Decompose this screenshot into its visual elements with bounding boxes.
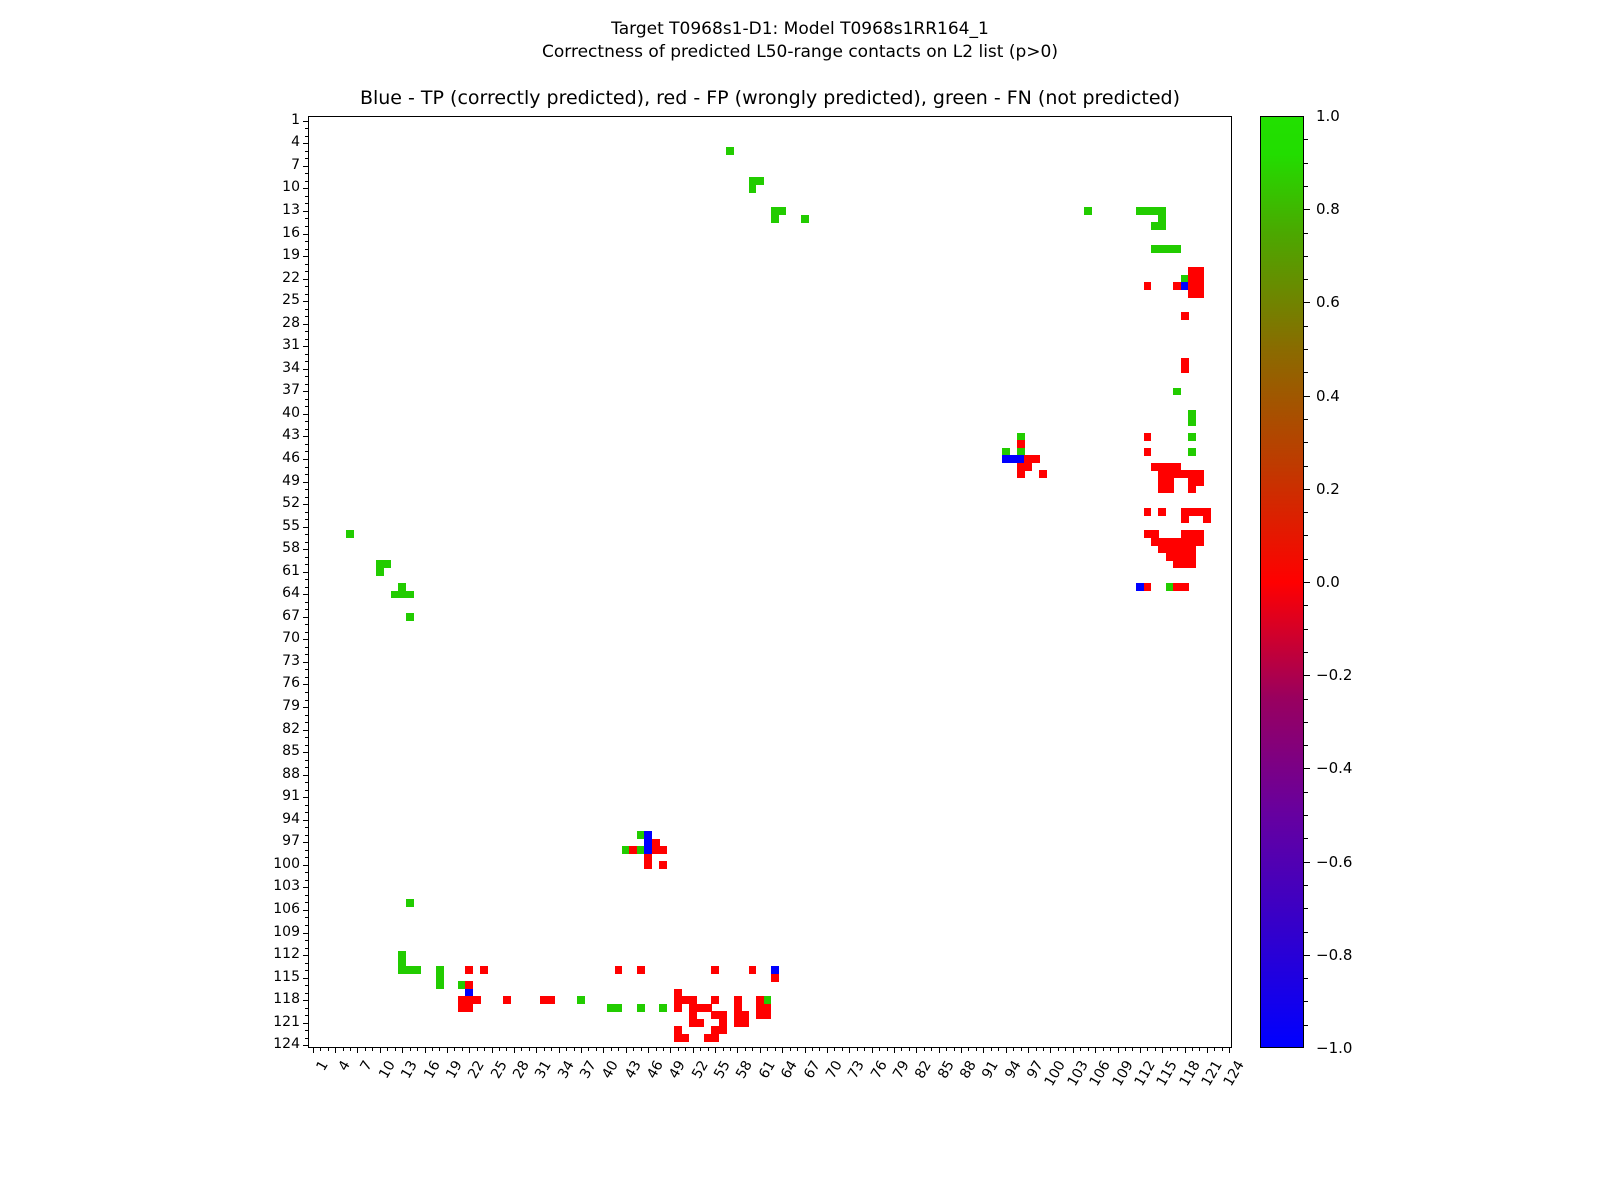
x-tick — [879, 1047, 880, 1051]
y-tick — [305, 579, 309, 580]
x-axis-tick-label: 37 — [577, 1058, 600, 1081]
colorbar-tick-label: −0.8 — [1316, 946, 1352, 964]
contact-cell-fn — [406, 899, 414, 907]
y-tick — [305, 692, 309, 693]
y-tick — [305, 286, 309, 287]
x-tick — [715, 1047, 716, 1053]
contact-cell-fp — [1181, 365, 1189, 373]
colorbar-tick-label: 0.6 — [1316, 293, 1340, 311]
y-tick — [305, 1008, 309, 1009]
x-tick — [998, 1047, 999, 1051]
x-tick — [946, 1047, 947, 1051]
colorbar-minor-tick — [1304, 699, 1308, 700]
y-tick — [303, 820, 309, 821]
x-tick — [633, 1047, 634, 1051]
y-tick — [305, 128, 309, 129]
y-tick — [303, 279, 309, 280]
x-tick — [1222, 1047, 1223, 1051]
x-tick — [730, 1047, 731, 1051]
y-tick — [305, 602, 309, 603]
contact-cell-fp — [1203, 515, 1211, 523]
y-tick — [305, 497, 309, 498]
y-tick — [305, 1030, 309, 1031]
contact-cell-fp — [1039, 470, 1047, 478]
y-tick — [305, 331, 309, 332]
x-axis-tick-label: 34 — [555, 1058, 578, 1081]
y-tick — [303, 1023, 309, 1024]
colorbar-minor-tick — [1304, 815, 1308, 816]
y-tick — [305, 136, 309, 137]
y-tick — [305, 361, 309, 362]
y-tick — [305, 948, 309, 949]
y-tick — [303, 775, 309, 776]
y-tick — [303, 730, 309, 731]
y-tick — [303, 617, 309, 618]
y-tick — [305, 444, 309, 445]
y-tick — [305, 429, 309, 430]
y-tick — [303, 143, 309, 144]
contact-cell-fn — [346, 530, 354, 538]
x-tick — [737, 1047, 738, 1053]
y-tick — [303, 887, 309, 888]
contact-cell-fn — [436, 981, 444, 989]
colorbar-tick — [1304, 582, 1310, 583]
y-axis-tick-label: 4 — [291, 134, 300, 150]
colorbar-minor-tick — [1304, 652, 1308, 653]
y-tick — [305, 557, 309, 558]
y-tick — [303, 436, 309, 437]
x-tick — [834, 1047, 835, 1051]
contact-cell-fn — [726, 147, 734, 155]
y-tick — [303, 482, 309, 483]
y-tick — [303, 1000, 309, 1001]
x-axis-tick-label: 79 — [890, 1058, 913, 1081]
x-tick — [819, 1047, 820, 1051]
contact-map-plot[interactable] — [308, 116, 1232, 1048]
colorbar-minor-tick — [1304, 396, 1308, 397]
y-tick — [303, 933, 309, 934]
x-tick — [1028, 1047, 1029, 1053]
y-tick — [303, 121, 309, 122]
x-axis-tick-label: 118 — [1176, 1058, 1203, 1089]
contact-cell-fp — [637, 966, 645, 974]
x-tick — [954, 1047, 955, 1051]
x-tick — [842, 1047, 843, 1051]
y-tick — [305, 767, 309, 768]
x-tick — [700, 1047, 701, 1051]
y-axis-tick-label: 73 — [282, 653, 300, 669]
y-tick — [303, 549, 309, 550]
figure-root: Target T0968s1-D1: Model T0968s1RR164_1 … — [0, 0, 1600, 1200]
y-axis-tick-label: 103 — [273, 878, 300, 894]
y-axis-tick-label: 10 — [282, 179, 300, 195]
y-tick — [305, 249, 309, 250]
contact-map-cells — [309, 117, 1231, 1047]
x-tick — [559, 1047, 560, 1053]
y-tick — [305, 835, 309, 836]
y-axis-tick-label: 106 — [273, 901, 300, 917]
x-tick — [648, 1047, 649, 1053]
contact-cell-fp — [1181, 515, 1189, 523]
colorbar-minor-tick — [1304, 349, 1308, 350]
contact-cell-fp — [465, 1004, 473, 1012]
y-tick — [305, 451, 309, 452]
y-axis-tick-label: 37 — [282, 382, 300, 398]
x-tick — [536, 1047, 537, 1053]
x-axis-tick-label: 19 — [443, 1058, 466, 1081]
x-axis-tick-label: 58 — [734, 1058, 757, 1081]
y-tick — [303, 256, 309, 257]
y-axis-tick-label: 79 — [282, 698, 300, 714]
x-axis-tick-label: 67 — [801, 1058, 824, 1081]
contact-cell-fn — [756, 177, 764, 185]
contact-cell-fp — [741, 1019, 749, 1027]
colorbar-tick — [1304, 862, 1310, 863]
x-tick — [626, 1047, 627, 1053]
colorbar-minor-tick — [1304, 978, 1308, 979]
y-tick — [303, 752, 309, 753]
y-tick — [305, 677, 309, 678]
x-tick — [417, 1047, 418, 1051]
y-tick — [305, 624, 309, 625]
colorbar-minor-tick — [1304, 885, 1308, 886]
contact-cell-fp — [547, 996, 555, 1004]
x-axis-tick-label: 106 — [1087, 1058, 1114, 1089]
y-tick — [303, 797, 309, 798]
contact-cell-fp — [1144, 583, 1152, 591]
y-tick — [305, 1015, 309, 1016]
contact-cell-fn — [1173, 245, 1181, 253]
y-axis-tick-label: 61 — [282, 563, 300, 579]
x-tick — [506, 1047, 507, 1051]
colorbar-minor-tick — [1304, 605, 1308, 606]
contact-cell-fp — [1196, 538, 1204, 546]
x-axis-tick-label: 31 — [532, 1058, 555, 1081]
contact-cell-fp — [1181, 312, 1189, 320]
x-tick — [827, 1047, 828, 1053]
y-tick — [305, 316, 309, 317]
y-tick — [305, 902, 309, 903]
x-axis-tick-label: 28 — [510, 1058, 533, 1081]
contact-cell-fp — [465, 966, 473, 974]
y-tick — [303, 978, 309, 979]
colorbar-minor-tick — [1304, 932, 1308, 933]
colorbar-minor-tick — [1304, 838, 1308, 839]
colorbar-minor-tick — [1304, 559, 1308, 560]
x-axis-tick-label: 40 — [599, 1058, 622, 1081]
x-axis-tick-label: 55 — [711, 1058, 734, 1081]
x-tick — [857, 1047, 858, 1051]
y-tick — [303, 639, 309, 640]
x-tick — [1058, 1047, 1059, 1051]
x-tick — [410, 1047, 411, 1051]
figure-title: Target T0968s1-D1: Model T0968s1RR164_1 … — [0, 18, 1600, 64]
x-tick — [790, 1047, 791, 1051]
y-axis-tick-label: 25 — [282, 292, 300, 308]
x-tick — [752, 1047, 753, 1051]
y-tick — [305, 196, 309, 197]
colorbar-tick — [1304, 955, 1310, 956]
colorbar-tick-label: 1.0 — [1316, 107, 1340, 125]
y-tick — [305, 925, 309, 926]
contact-cell-fp — [1144, 508, 1152, 516]
y-axis-tick-label: 34 — [282, 360, 300, 376]
x-axis-tick-label: 10 — [376, 1058, 399, 1081]
y-tick — [305, 384, 309, 385]
y-axis-tick-label: 16 — [282, 225, 300, 241]
x-tick — [529, 1047, 530, 1051]
y-axis-tick-label: 31 — [282, 337, 300, 353]
y-axis-tick-label: 85 — [282, 743, 300, 759]
x-tick — [1103, 1047, 1104, 1051]
y-tick — [305, 737, 309, 738]
x-tick — [1021, 1047, 1022, 1051]
contact-cell-fp — [711, 996, 719, 1004]
x-tick — [1095, 1047, 1096, 1053]
y-axis-tick-label: 100 — [273, 856, 300, 872]
y-tick — [305, 542, 309, 543]
y-tick — [305, 715, 309, 716]
colorbar-tick-label: 0.8 — [1316, 200, 1340, 218]
y-tick — [305, 812, 309, 813]
contact-cell-fn — [406, 613, 414, 621]
contact-cell-fn — [801, 215, 809, 223]
colorbar-minor-tick — [1304, 466, 1308, 467]
colorbar-minor-tick — [1304, 908, 1308, 909]
x-tick — [372, 1047, 373, 1051]
x-tick — [991, 1047, 992, 1051]
x-tick — [603, 1047, 604, 1053]
x-tick — [596, 1047, 597, 1051]
x-tick — [514, 1047, 515, 1053]
x-axis-tick-label: 43 — [622, 1058, 645, 1081]
contact-cell-fp — [473, 996, 481, 1004]
y-axis-tick-label: 43 — [282, 427, 300, 443]
contact-cell-fn — [1188, 448, 1196, 456]
y-axis-tick-label: 19 — [282, 247, 300, 263]
x-tick — [447, 1047, 448, 1053]
contact-cell-fp — [749, 966, 757, 974]
x-tick — [976, 1047, 977, 1051]
x-tick — [805, 1047, 806, 1053]
y-tick — [305, 654, 309, 655]
x-tick — [454, 1047, 455, 1051]
contact-cell-fp — [480, 966, 488, 974]
x-axis-tick-label: 124 — [1221, 1058, 1248, 1089]
x-tick — [1177, 1047, 1178, 1051]
x-axis-tick-label: 76 — [868, 1058, 891, 1081]
colorbar-minor-tick — [1304, 535, 1308, 536]
x-axis-tick-label: 46 — [644, 1058, 667, 1081]
x-tick — [849, 1047, 850, 1053]
y-axis-tick-label: 121 — [273, 1014, 300, 1030]
x-axis-tick-label: 49 — [666, 1058, 689, 1081]
x-axis-tick-label: 4 — [336, 1058, 354, 1074]
colorbar-tick — [1304, 768, 1310, 769]
colorbar-minor-tick — [1304, 489, 1308, 490]
x-axis-tick-label: 22 — [465, 1058, 488, 1081]
x-tick — [365, 1047, 366, 1051]
x-tick — [656, 1047, 657, 1051]
y-axis-tick-label: 13 — [282, 202, 300, 218]
y-tick — [305, 1038, 309, 1039]
colorbar-minor-tick — [1304, 372, 1308, 373]
y-axis-tick-label: 70 — [282, 630, 300, 646]
colorbar-minor-tick — [1304, 326, 1308, 327]
x-axis-tick-label: 70 — [823, 1058, 846, 1081]
contact-cell-fn — [615, 1004, 623, 1012]
contact-cell-fp — [674, 1004, 682, 1012]
contact-cell-fp — [1188, 560, 1196, 568]
x-tick — [469, 1047, 470, 1053]
x-tick — [581, 1047, 582, 1053]
x-axis-tick-label: 13 — [398, 1058, 421, 1081]
y-tick — [303, 707, 309, 708]
y-axis-tick-label: 124 — [273, 1036, 300, 1052]
y-tick — [305, 700, 309, 701]
x-tick — [1006, 1047, 1007, 1053]
x-tick — [313, 1047, 314, 1053]
x-tick — [887, 1047, 888, 1051]
y-tick — [305, 181, 309, 182]
x-tick — [1088, 1047, 1089, 1051]
y-tick — [305, 512, 309, 513]
x-tick — [492, 1047, 493, 1053]
y-tick — [305, 339, 309, 340]
y-tick — [303, 211, 309, 212]
y-tick — [305, 917, 309, 918]
y-tick — [303, 572, 309, 573]
y-tick — [305, 970, 309, 971]
x-tick — [670, 1047, 671, 1053]
y-tick — [303, 955, 309, 956]
x-tick — [328, 1047, 329, 1051]
contact-cell-fn — [1188, 418, 1196, 426]
colorbar-gradient — [1260, 116, 1304, 1048]
y-tick — [305, 872, 309, 873]
y-tick — [303, 684, 309, 685]
x-tick — [1192, 1047, 1193, 1051]
y-axis-tick-label: 22 — [282, 270, 300, 286]
title-line-1: Target T0968s1-D1: Model T0968s1RR164_1 — [0, 18, 1600, 41]
x-tick — [1214, 1047, 1215, 1051]
y-axis-tick-label: 52 — [282, 495, 300, 511]
x-tick — [1140, 1047, 1141, 1053]
x-tick — [775, 1047, 776, 1051]
x-tick — [693, 1047, 694, 1053]
y-tick — [305, 309, 309, 310]
y-tick — [305, 940, 309, 941]
x-tick — [477, 1047, 478, 1051]
y-tick — [303, 391, 309, 392]
x-tick — [1199, 1047, 1200, 1051]
contact-cell-fn — [1158, 222, 1166, 230]
x-axis-tick-label: 121 — [1199, 1058, 1226, 1089]
y-tick — [305, 895, 309, 896]
x-axis-tick-label: 85 — [935, 1058, 958, 1081]
colorbar[interactable]: 1.00.80.60.40.20.0−0.2−0.4−0.6−0.8−1.0 — [1260, 116, 1304, 1048]
y-tick — [305, 857, 309, 858]
x-tick — [1065, 1047, 1066, 1051]
y-tick — [305, 790, 309, 791]
y-axis-tick-label: 58 — [282, 540, 300, 556]
y-tick — [303, 504, 309, 505]
colorbar-minor-tick — [1304, 279, 1308, 280]
y-axis-tick-label: 118 — [273, 991, 300, 1007]
y-tick — [303, 188, 309, 189]
x-tick — [357, 1047, 358, 1053]
x-tick — [1207, 1047, 1208, 1053]
colorbar-minor-tick — [1304, 442, 1308, 443]
x-axis-tick-label: 25 — [488, 1058, 511, 1081]
x-axis-tick-label: 1 — [313, 1058, 331, 1074]
x-axis-tick-label: 61 — [756, 1058, 779, 1081]
x-tick — [812, 1047, 813, 1051]
x-tick — [402, 1047, 403, 1053]
x-tick — [968, 1047, 969, 1051]
y-tick — [305, 241, 309, 242]
x-tick — [916, 1047, 917, 1053]
colorbar-tick — [1304, 675, 1310, 676]
x-tick — [1170, 1047, 1171, 1051]
colorbar-minor-tick — [1304, 1025, 1308, 1026]
y-tick — [305, 158, 309, 159]
y-tick — [303, 324, 309, 325]
contact-cell-fp — [711, 1034, 719, 1042]
x-tick — [708, 1047, 709, 1051]
contact-cell-fp — [1188, 485, 1196, 493]
contact-cell-fp — [1144, 448, 1152, 456]
x-tick — [1185, 1047, 1186, 1053]
y-axis-tick-label: 88 — [282, 766, 300, 782]
colorbar-minor-tick — [1304, 419, 1308, 420]
x-axis-tick-label: 94 — [1002, 1058, 1025, 1081]
x-axis-tick-label: 73 — [845, 1058, 868, 1081]
x-tick — [641, 1047, 642, 1051]
x-axis-tick-label: 82 — [912, 1058, 935, 1081]
colorbar-tick-label: −0.2 — [1316, 666, 1352, 684]
contact-cell-fp — [615, 966, 623, 974]
contact-cell-fp — [503, 996, 511, 1004]
contact-cell-fn — [406, 591, 414, 599]
y-axis-tick-label: 82 — [282, 721, 300, 737]
x-axis-tick-label: 103 — [1064, 1058, 1091, 1089]
y-tick — [303, 842, 309, 843]
y-axis-tick-label: 49 — [282, 473, 300, 489]
y-axis-tick-label: 97 — [282, 833, 300, 849]
x-tick — [521, 1047, 522, 1051]
y-axis-tick-label: 7 — [291, 157, 300, 173]
x-tick — [395, 1047, 396, 1051]
y-tick — [305, 173, 309, 174]
x-axis-tick-label: 112 — [1131, 1058, 1158, 1089]
x-tick — [1229, 1047, 1230, 1053]
colorbar-tick — [1304, 302, 1310, 303]
y-tick — [305, 151, 309, 152]
x-tick — [335, 1047, 336, 1053]
colorbar-minor-tick — [1304, 745, 1308, 746]
x-tick — [484, 1047, 485, 1051]
x-axis-tick-label: 91 — [979, 1058, 1002, 1081]
y-tick — [305, 399, 309, 400]
y-axis-tick-label: 40 — [282, 405, 300, 421]
contact-cell-fp — [1181, 583, 1189, 591]
colorbar-tick-label: 0.2 — [1316, 480, 1340, 498]
y-axis-tick-label: 67 — [282, 608, 300, 624]
y-tick — [305, 294, 309, 295]
x-tick — [588, 1047, 589, 1051]
y-tick — [305, 805, 309, 806]
